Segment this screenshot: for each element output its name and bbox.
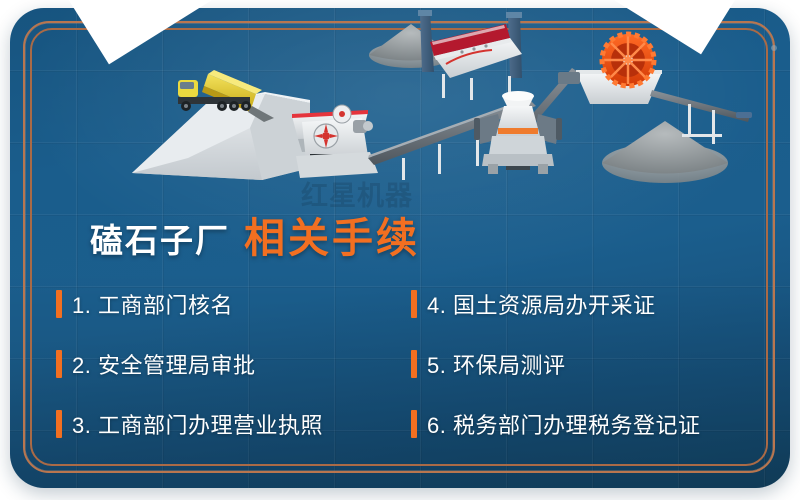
list-item: 2. 安全管理局审批 — [56, 348, 411, 380]
bullet-bar-icon — [56, 410, 62, 438]
bullet-bar-icon — [56, 350, 62, 378]
procedure-list: 1. 工商部门核名 4. 国土资源局办开采证 2. 安全管理局审批 5. 环保局… — [56, 274, 766, 454]
list-item: 3. 工商部门办理营业执照 — [56, 408, 411, 440]
screenshot-root: 红星机器 磕石子厂 相关手续 1. 工商部门核名 4. 国土资源局办开采证 2 — [0, 0, 800, 500]
list-item-label: 5. 环保局测评 — [427, 348, 566, 380]
list-item-label: 3. 工商部门办理营业执照 — [72, 408, 323, 440]
bullet-bar-icon — [411, 350, 417, 378]
list-item-label: 4. 国土资源局办开采证 — [427, 288, 656, 320]
list-item: 1. 工商部门核名 — [56, 288, 411, 320]
list-item-label: 2. 安全管理局审批 — [72, 348, 256, 380]
list-item: 4. 国土资源局办开采证 — [411, 288, 766, 320]
bullet-bar-icon — [411, 410, 417, 438]
bullet-bar-icon — [56, 290, 62, 318]
bullet-bar-icon — [411, 290, 417, 318]
title-highlight: 相关手续 — [244, 204, 420, 264]
text-content: 磕石子厂 相关手续 1. 工商部门核名 4. 国土资源局办开采证 2. 安全管理… — [10, 8, 790, 488]
list-item-label: 6. 税务部门办理税务登记证 — [427, 408, 701, 440]
list-item: 5. 环保局测评 — [411, 348, 766, 380]
list-item: 6. 税务部门办理税务登记证 — [411, 408, 766, 440]
info-panel: 红星机器 磕石子厂 相关手续 1. 工商部门核名 4. 国土资源局办开采证 2 — [10, 8, 790, 488]
title-primary: 磕石子厂 — [90, 214, 230, 262]
list-item-label: 1. 工商部门核名 — [72, 288, 233, 320]
page-title: 磕石子厂 相关手续 — [90, 204, 420, 264]
